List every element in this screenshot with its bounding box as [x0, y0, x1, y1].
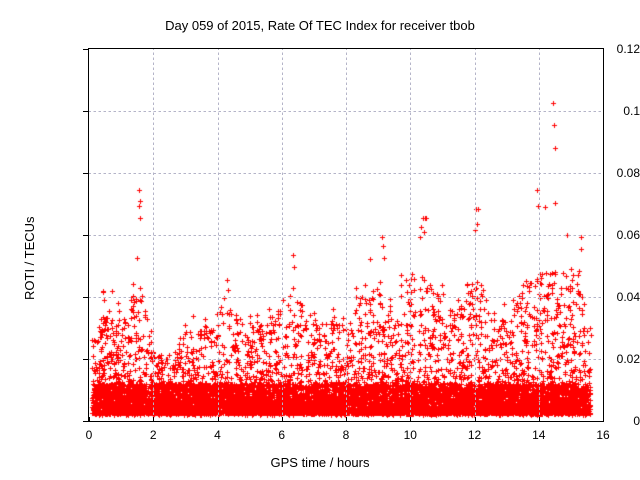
plot-area — [88, 48, 604, 422]
x-tick-mark — [475, 417, 476, 422]
x-tick-label: 0 — [69, 428, 109, 442]
y-tick-label: 0.12 — [562, 42, 640, 56]
y-tick-mark — [83, 421, 88, 422]
y-tick-mark — [83, 173, 88, 174]
x-tick-label: 16 — [583, 428, 623, 442]
x-gridline — [410, 49, 411, 421]
y-tick-label: 0.06 — [562, 228, 640, 242]
y-tick-mark — [83, 359, 88, 360]
y-tick-label: 0.08 — [562, 166, 640, 180]
y-tick-mark — [83, 49, 88, 50]
x-tick-mark — [410, 417, 411, 422]
x-tick-mark — [282, 417, 283, 422]
x-gridline — [346, 49, 347, 421]
y-tick-label: 0.02 — [562, 352, 640, 366]
x-gridline — [218, 49, 219, 421]
x-tick-mark — [539, 417, 540, 422]
x-gridline — [282, 49, 283, 421]
y-tick-label: 0.1 — [562, 104, 640, 118]
x-gridline — [475, 49, 476, 421]
x-tick-mark — [153, 417, 154, 422]
x-tick-label: 2 — [133, 428, 173, 442]
chart-container: Day 059 of 2015, Rate Of TEC Index for r… — [0, 0, 640, 480]
x-tick-mark — [603, 417, 604, 422]
x-tick-mark — [346, 417, 347, 422]
x-tick-label: 8 — [326, 428, 366, 442]
y-tick-mark — [83, 235, 88, 236]
y-tick-mark — [83, 297, 88, 298]
x-tick-label: 10 — [390, 428, 430, 442]
x-tick-label: 6 — [262, 428, 302, 442]
x-axis-label: GPS time / hours — [0, 455, 640, 470]
x-tick-label: 4 — [198, 428, 238, 442]
y-tick-label: 0.04 — [562, 290, 640, 304]
x-tick-mark — [89, 417, 90, 422]
y-axis-label: ROTI / TECUs — [22, 216, 37, 300]
x-gridline — [153, 49, 154, 421]
x-tick-mark — [218, 417, 219, 422]
x-gridline — [539, 49, 540, 421]
x-tick-label: 12 — [455, 428, 495, 442]
x-tick-label: 14 — [519, 428, 559, 442]
y-tick-label: 0 — [562, 414, 640, 428]
y-tick-mark — [83, 111, 88, 112]
chart-title: Day 059 of 2015, Rate Of TEC Index for r… — [0, 18, 640, 33]
